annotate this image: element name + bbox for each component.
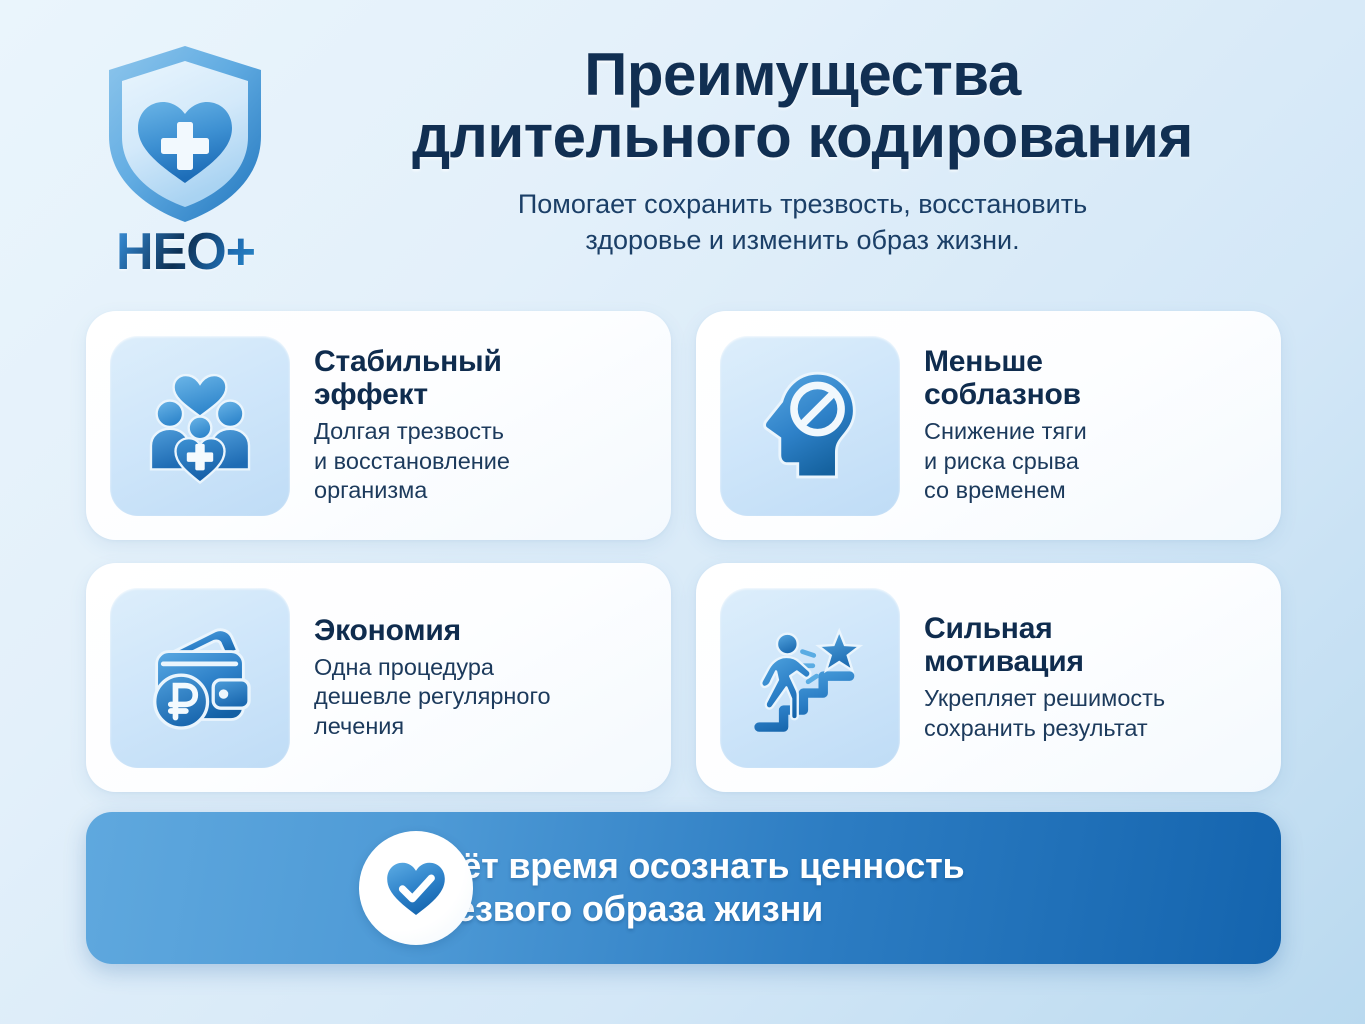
card-title-line-1: Сильная (924, 612, 1259, 645)
card-text: Меньше соблазнов Снижение тяги и риска с… (924, 345, 1259, 506)
card-title: Сильная мотивация (924, 612, 1259, 678)
benefit-card-savings[interactable]: Экономия Одна процедура дешевле регулярн… (86, 563, 671, 792)
card-title: Экономия (314, 614, 649, 647)
card-desc-line-2: и восстановление (314, 447, 649, 477)
bottom-banner[interactable]: Даёт время осознать ценность трезвого об… (86, 812, 1281, 964)
benefit-card-strong-motivation[interactable]: Сильная мотивация Укрепляет решимость со… (696, 563, 1281, 792)
page-title: Преимущества длительного кодирования (300, 44, 1305, 169)
card-title-line-2: эффект (314, 378, 649, 411)
card-desc-line-3: организма (314, 476, 649, 506)
family-heart-plus-icon (110, 336, 290, 516)
heart-check-circle-icon (359, 831, 473, 945)
header: НЕО+ Преимущества длительного кодировани… (0, 0, 1365, 305)
card-description: Долгая трезвость и восстановление органи… (314, 417, 649, 506)
card-text: Экономия Одна процедура дешевле регулярн… (314, 614, 649, 742)
infographic-poster: НЕО+ Преимущества длительного кодировани… (0, 0, 1365, 1024)
card-title: Меньше соблазнов (924, 345, 1259, 411)
card-title-line-2: мотивация (924, 645, 1259, 678)
card-desc-line-2: дешевле регулярного (314, 682, 649, 712)
benefits-grid: Стабильный эффект Долгая трезвость и вос… (86, 311, 1281, 792)
card-title: Стабильный эффект (314, 345, 649, 411)
card-title-line-1: Меньше (924, 345, 1259, 378)
title-block: Преимущества длительного кодирования Пом… (300, 44, 1305, 259)
card-desc-line-1: Снижение тяги (924, 417, 1259, 447)
benefit-card-less-temptation[interactable]: Меньше соблазнов Снижение тяги и риска с… (696, 311, 1281, 540)
page-subtitle: Помогает сохранить трезвость, восстанови… (300, 187, 1305, 259)
wallet-ruble-icon (110, 588, 290, 768)
card-desc-line-1: Укрепляет решимость (924, 684, 1259, 714)
shield-heart-plus-icon (98, 40, 273, 230)
card-title-line-1: Стабильный (314, 345, 649, 378)
banner-line-2: трезвого образа жизни (416, 888, 964, 931)
card-desc-line-1: Одна процедура (314, 653, 649, 683)
head-prohibition-icon (720, 336, 900, 516)
subtitle-line-1: Помогает сохранить трезвость, восстанови… (300, 187, 1305, 223)
card-title-line-2: соблазнов (924, 378, 1259, 411)
card-desc-line-3: лечения (314, 712, 649, 742)
card-desc-line-2: и риска срыва (924, 447, 1259, 477)
subtitle-line-2: здоровье и изменить образ жизни. (300, 223, 1305, 259)
benefit-card-stable-effect[interactable]: Стабильный эффект Долгая трезвость и вос… (86, 311, 671, 540)
brand-name: НЕО+ (78, 226, 293, 278)
banner-line-1: Даёт время осознать ценность (416, 845, 964, 888)
title-line-2: длительного кодирования (300, 106, 1305, 168)
card-title-line-1: Экономия (314, 614, 649, 647)
card-desc-line-1: Долгая трезвость (314, 417, 649, 447)
card-description: Снижение тяги и риска срыва со временем (924, 417, 1259, 506)
banner-text: Даёт время осознать ценность трезвого об… (416, 845, 964, 931)
card-desc-line-3: со временем (924, 476, 1259, 506)
card-description: Укрепляет решимость сохранить результат (924, 684, 1259, 743)
brand-logo: НЕО+ (78, 40, 293, 278)
card-description: Одна процедура дешевле регулярного лечен… (314, 653, 649, 742)
title-line-1: Преимущества (300, 44, 1305, 106)
card-desc-line-2: сохранить результат (924, 714, 1259, 744)
card-text: Стабильный эффект Долгая трезвость и вос… (314, 345, 649, 506)
card-text: Сильная мотивация Укрепляет решимость со… (924, 612, 1259, 743)
stairs-star-runner-icon (720, 588, 900, 768)
